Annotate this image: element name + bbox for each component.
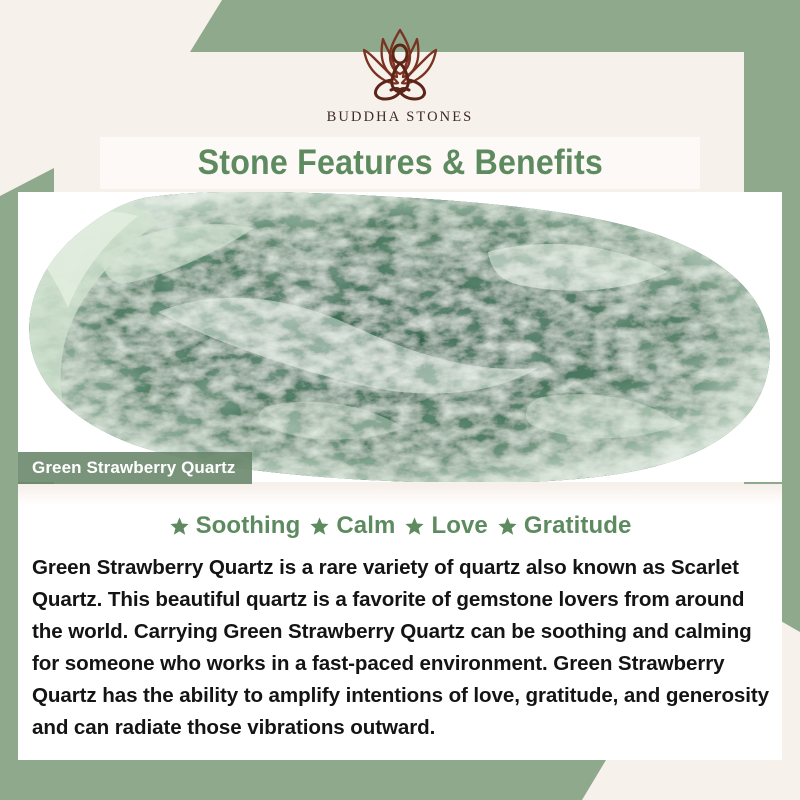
stone-image (18, 192, 782, 482)
feature-item-love: Love (404, 512, 487, 540)
stone-photo (18, 192, 782, 482)
feature-item-gratitude: Gratitude (497, 512, 632, 540)
photo-caption: Green Strawberry Quartz (18, 452, 252, 484)
feature-item-calm: Calm (309, 512, 395, 540)
star-icon (309, 516, 330, 537)
infographic-page: BUDDHA STONES Stone Features & Benefits (0, 0, 800, 800)
page-title: Stone Features & Benefits (197, 143, 602, 183)
star-icon (404, 516, 425, 537)
brand-logo: BUDDHA STONES (327, 22, 474, 126)
description-text: Green Strawberry Quartz is a rare variet… (32, 552, 770, 744)
feature-label: Gratitude (524, 512, 632, 540)
feature-label: Calm (336, 512, 395, 540)
title-banner: Stone Features & Benefits (100, 137, 700, 189)
feature-item-soothing: Soothing (169, 512, 301, 540)
feature-list: Soothing Calm Love Gratitude (18, 512, 782, 540)
panel-top-fade (18, 484, 782, 506)
photo-caption-label: Green Strawberry Quartz (32, 458, 236, 478)
star-icon (169, 516, 190, 537)
star-icon (497, 516, 518, 537)
content-panel: Soothing Calm Love Gratitude (18, 484, 782, 760)
feature-label: Love (431, 512, 487, 540)
feature-label: Soothing (196, 512, 301, 540)
brand-name: BUDDHA STONES (327, 109, 474, 126)
lotus-meditation-icon (336, 22, 464, 104)
